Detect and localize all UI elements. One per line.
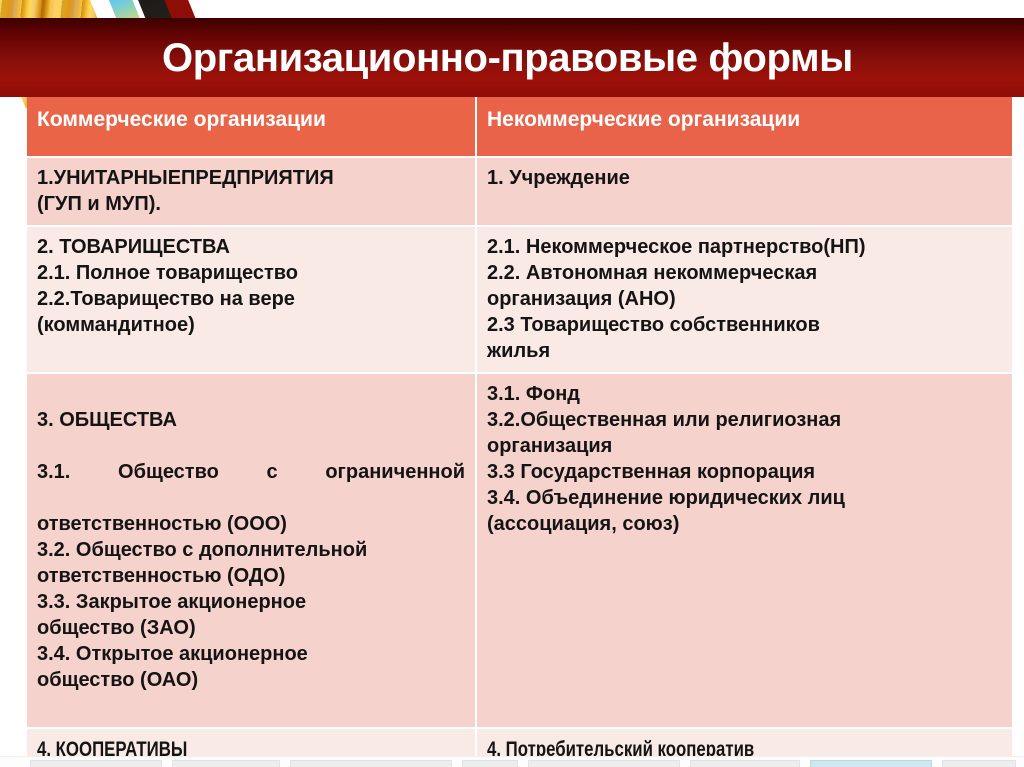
bottom-strip-chip-active[interactable]: [810, 760, 932, 767]
bottom-strip-chip[interactable]: [30, 760, 162, 767]
bottom-cropped-ui-strip: [0, 756, 1024, 767]
cell-noncommercial-partnerships: 2.1. Некоммерческое партнерство(НП) 2.2.…: [477, 227, 1012, 374]
organizational-forms-table: Коммерческие организации Некоммерческие …: [27, 97, 1012, 767]
companies-heading: 3. ОБЩЕСТВА: [37, 407, 465, 433]
cell-noncommercial-institution: 1. Учреждение: [477, 158, 1012, 227]
column-header-noncommercial: Некоммерческие организации: [477, 97, 1012, 158]
title-banner: Организационно-правовые формы: [0, 18, 1024, 97]
companies-remaining-lines: ответственностью (ООО) 3.2. Общество с д…: [37, 511, 465, 693]
bottom-strip-chip[interactable]: [942, 760, 1016, 767]
column-header-commercial: Коммерческие организации: [27, 97, 477, 158]
cell-commercial-unitary: 1.УНИТАРНЫЕПРЕДПРИЯТИЯ (ГУП и МУП).: [27, 158, 477, 227]
table-body: 1.УНИТАРНЫЕПРЕДПРИЯТИЯ (ГУП и МУП). 1. У…: [27, 158, 1012, 767]
bottom-strip-chip[interactable]: [690, 760, 800, 767]
table-row: 3. ОБЩЕСТВА 3.1. Общество с ограниченной…: [27, 374, 1012, 729]
table-header-row: Коммерческие организации Некоммерческие …: [27, 97, 1012, 158]
page-title: Организационно-правовые формы: [162, 38, 853, 78]
cell-commercial-partnerships: 2. ТОВАРИЩЕСТВА 2.1. Полное товарищество…: [27, 227, 477, 374]
bottom-strip-chip[interactable]: [462, 760, 518, 767]
bottom-strip-chip[interactable]: [528, 760, 680, 767]
companies-llc-justified-line: 3.1. Общество с ограниченной: [37, 459, 465, 485]
slide-root: Организационно-правовые формы Коммерческ…: [0, 0, 1024, 767]
table-header: Коммерческие организации Некоммерческие …: [27, 97, 1012, 158]
table-row: 1.УНИТАРНЫЕПРЕДПРИЯТИЯ (ГУП и МУП). 1. У…: [27, 158, 1012, 227]
cell-noncommercial-funds: 3.1. Фонд 3.2.Общественная или религиозн…: [477, 374, 1012, 729]
bottom-strip-chip[interactable]: [290, 760, 452, 767]
bottom-strip-chip[interactable]: [172, 760, 280, 767]
table-row: 2. ТОВАРИЩЕСТВА 2.1. Полное товарищество…: [27, 227, 1012, 374]
cell-commercial-companies: 3. ОБЩЕСТВА 3.1. Общество с ограниченной…: [27, 374, 477, 729]
